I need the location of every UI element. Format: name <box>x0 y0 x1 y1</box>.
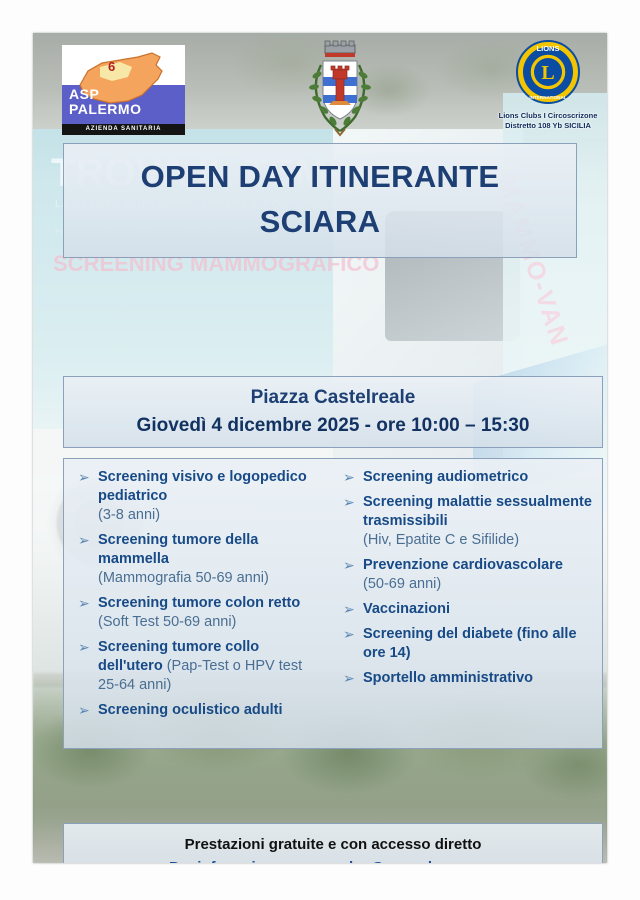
service-item: ➢Screening malattie sessualmente trasmis… <box>341 493 592 550</box>
service-item: ➢Screening visivo e logopedico pediatric… <box>76 468 327 525</box>
title-panel: OPEN DAY ITINERANTE SCIARA <box>63 143 577 258</box>
page-title-line1: OPEN DAY ITINERANTE <box>64 154 576 200</box>
service-item: ➢Screening tumore della mammella(Mammogr… <box>76 531 327 588</box>
lions-caption: Lions Clubs I Circoscrizone Distretto 10… <box>493 111 603 131</box>
service-item: ➢Vaccinazioni <box>341 600 592 619</box>
service-item: ➢Screening audiometrico <box>341 468 592 487</box>
arrow-bullet-icon: ➢ <box>78 638 90 657</box>
footer-line-free-access: Prestazioni gratuite e con accesso diret… <box>64 833 602 856</box>
lions-caption-line2: Distretto 108 Yb SICILIA <box>493 121 603 131</box>
page-title-line2: SCIARA <box>64 200 576 244</box>
service-title: Prevenzione cardiovascolare <box>363 557 563 573</box>
services-left-column: ➢Screening visivo e logopedico pediatric… <box>68 468 333 748</box>
arrow-bullet-icon: ➢ <box>78 531 90 550</box>
services-panel: ➢Screening visivo e logopedico pediatric… <box>63 458 603 749</box>
asp-acronym-line2: PALERMO <box>69 102 141 117</box>
lions-caption-line1: Lions Clubs I Circoscrizone <box>493 111 603 121</box>
arrow-bullet-icon: ➢ <box>343 600 355 619</box>
service-title: Screening tumore colon retto <box>98 595 300 611</box>
asp-zone-number: 6 <box>108 59 115 74</box>
service-title: Sportello amministrativo <box>363 670 533 686</box>
service-item: ➢Screening del diabete (fino alle ore 14… <box>341 625 592 663</box>
service-detail: (3-8 anni) <box>98 507 160 523</box>
service-item: ➢Prevenzione cardiovascolare (50-69 anni… <box>341 556 592 594</box>
arrow-bullet-icon: ➢ <box>343 669 355 688</box>
lions-emblem-icon: L LIONS INTERNATIONAL <box>515 39 581 105</box>
service-title: Screening visivo e logopedico pediatrico <box>98 469 307 504</box>
service-detail: (50-69 anni) <box>363 576 441 592</box>
footer-panel: Prestazioni gratuite e con accesso diret… <box>63 823 603 863</box>
arrow-bullet-icon: ➢ <box>343 493 355 512</box>
page-sheet: TROVA IL TEMPO LA SALUTE E UN DONO, IMPA… <box>0 0 640 900</box>
comune-coat-of-arms-icon <box>305 39 375 139</box>
arrow-bullet-icon: ➢ <box>78 594 90 613</box>
arrow-bullet-icon: ➢ <box>78 468 90 487</box>
asp-subtitle-strip: AZIENDA SANITARIA PROVINCIALE <box>62 124 185 135</box>
event-details-panel: Piazza Castelreale Giovedì 4 dicembre 20… <box>63 376 603 448</box>
service-title: Screening oculistico adulti <box>98 702 283 718</box>
lions-club-logo: L LIONS INTERNATIONAL Lions Clubs I Circ… <box>493 39 603 139</box>
service-detail: (Mammografia 50-69 anni) <box>98 570 269 586</box>
services-right-column: ➢Screening audiometrico➢Screening malatt… <box>333 468 598 748</box>
svg-text:L: L <box>541 62 554 84</box>
service-item: ➢Screening tumore colon retto (Soft Test… <box>76 594 327 632</box>
arrow-bullet-icon: ➢ <box>343 556 355 575</box>
service-title: Screening malattie sessualmente trasmiss… <box>363 494 592 529</box>
service-item: ➢Sportello amministrativo <box>341 669 592 688</box>
service-title: Screening audiometrico <box>363 469 528 485</box>
service-title: Screening tumore della mammella <box>98 532 258 567</box>
asp-acronym: ASP PALERMO <box>69 87 141 117</box>
event-place: Piazza Castelreale <box>64 384 602 412</box>
svg-text:LIONS: LIONS <box>537 44 560 53</box>
service-item: ➢Screening oculistico adulti <box>76 701 327 720</box>
svg-text:INTERNATIONAL: INTERNATIONAL <box>529 95 566 100</box>
footer-line-contact: Per info scrivere a: openday@asppalermo.… <box>64 856 602 863</box>
asp-subtitle: AZIENDA SANITARIA PROVINCIALE <box>62 124 185 135</box>
service-detail: (Hiv, Epatite C e Sifilide) <box>363 532 519 548</box>
service-title: Vaccinazioni <box>363 601 450 617</box>
header-logos: 6 ASP PALERMO AZIENDA SANITARIA PROVINCI… <box>33 33 607 143</box>
arrow-bullet-icon: ➢ <box>78 701 90 720</box>
service-item: ➢Screening tumore collo dell'utero (Pap-… <box>76 638 327 695</box>
arrow-bullet-icon: ➢ <box>343 625 355 644</box>
asp-acronym-line1: ASP <box>69 87 141 102</box>
poster: TROVA IL TEMPO LA SALUTE E UN DONO, IMPA… <box>33 33 607 863</box>
service-title: Screening del diabete (fino alle ore 14) <box>363 626 577 661</box>
arrow-bullet-icon: ➢ <box>343 468 355 487</box>
event-datetime: Giovedì 4 dicembre 2025 - ore 10:00 – 15… <box>64 412 602 440</box>
service-detail: (Soft Test 50-69 anni) <box>98 614 236 630</box>
asp-palermo-logo: 6 ASP PALERMO AZIENDA SANITARIA PROVINCI… <box>62 45 185 135</box>
